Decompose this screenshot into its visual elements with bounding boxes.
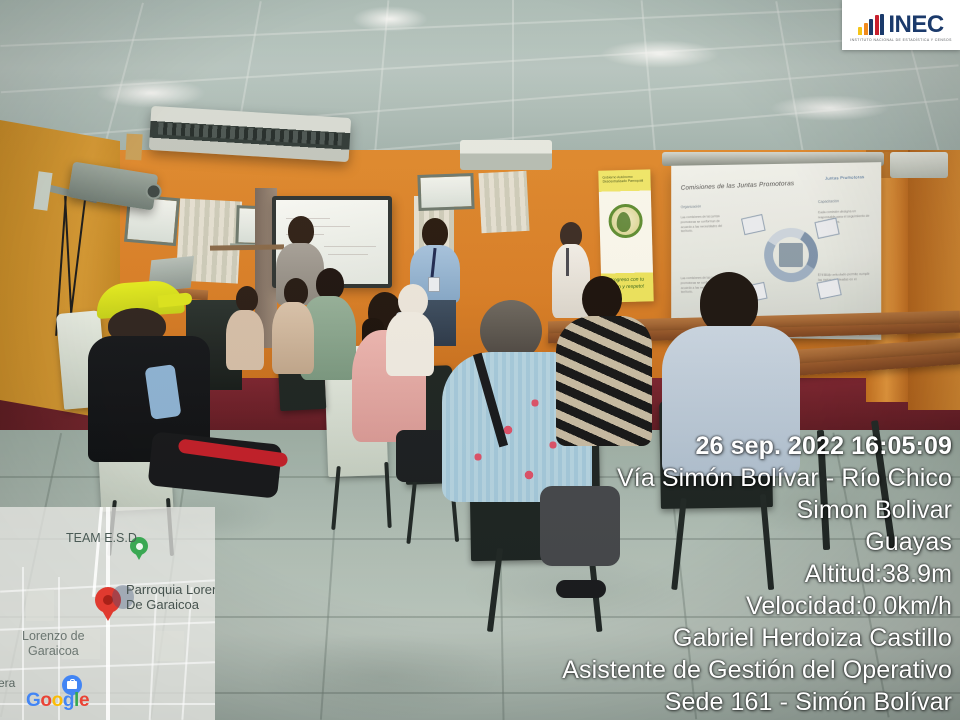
window-far-right bbox=[417, 173, 474, 211]
air-conditioner-far bbox=[890, 152, 948, 178]
gps-timestamp: 26 sep. 2022 16:05:09 bbox=[562, 430, 952, 462]
google-wordmark: Google bbox=[26, 691, 89, 710]
road-diagonal bbox=[92, 507, 103, 597]
map-overlay[interactable]: TEAM E.S.D Parroquia Lorenzo De Garaicoa… bbox=[0, 507, 215, 720]
ac-vent-grille bbox=[158, 122, 342, 145]
gps-speed: Velocidad:0.0km/h bbox=[562, 590, 952, 622]
gps-road: Vía Simón Bolívar - Río Chico bbox=[562, 462, 952, 494]
head bbox=[422, 218, 448, 248]
bar-blue bbox=[869, 19, 873, 35]
gps-role: Asistente de Gestión del Operativo bbox=[562, 654, 952, 686]
slide-logo: Juntas Promotoras bbox=[825, 174, 865, 181]
google-letter-e: e bbox=[79, 691, 89, 710]
google-letter-g1: G bbox=[26, 691, 40, 710]
gps-person-name: Gabriel Herdoiza Castillo bbox=[562, 622, 952, 654]
ceiling-light-4 bbox=[770, 95, 890, 121]
map-label-area-line1: Lorenzo de bbox=[22, 629, 85, 643]
torso bbox=[272, 302, 314, 374]
wall-pillar-far-right bbox=[908, 150, 960, 410]
torso-zebra bbox=[556, 316, 652, 446]
map-block-3 bbox=[156, 631, 184, 661]
google-letter-o2: o bbox=[52, 691, 63, 710]
electrical-box bbox=[125, 134, 142, 161]
slide-card-tr bbox=[814, 217, 839, 239]
slide-section-2: Capacitación bbox=[818, 199, 839, 204]
slide-title: Comisiones de las Juntas Promotoras bbox=[681, 180, 795, 192]
gps-locality: Simon Bolivar bbox=[562, 494, 952, 526]
id-badge bbox=[428, 277, 440, 292]
gps-province: Guayas bbox=[562, 526, 952, 558]
bar-orange bbox=[864, 23, 868, 35]
google-letter-o1: o bbox=[40, 691, 51, 710]
inec-logo: INEC Instituto Nacional de Estadística y… bbox=[842, 0, 960, 50]
briefcase-handle bbox=[70, 679, 75, 683]
lanyard bbox=[566, 248, 569, 276]
ceiling-light-2 bbox=[96, 78, 206, 108]
torso bbox=[386, 312, 434, 376]
google-logo[interactable]: Google bbox=[26, 691, 89, 710]
air-conditioner-secondary bbox=[460, 140, 552, 170]
google-letter-g2: g bbox=[63, 691, 74, 710]
inec-subtitle: Instituto Nacional de Estadística y Cens… bbox=[850, 38, 952, 42]
inec-logo-row: INEC bbox=[858, 9, 943, 35]
slide-body-1: Las comisiones de las juntas promotoras … bbox=[680, 214, 731, 235]
inec-wordmark: INEC bbox=[888, 15, 943, 35]
ceiling-light-1 bbox=[352, 6, 428, 32]
head bbox=[288, 216, 314, 246]
head bbox=[700, 272, 758, 334]
pin-tip bbox=[134, 551, 144, 560]
briefcase-icon bbox=[67, 681, 77, 689]
map-block-1 bbox=[26, 589, 54, 621]
map-label-parroquia-line2: De Garaicoa bbox=[126, 598, 199, 612]
head bbox=[236, 286, 258, 312]
map-label-parroquia-line1: Parroquia Lorenzo bbox=[126, 583, 215, 597]
pin-tip bbox=[100, 607, 116, 621]
map-label-partial-street: rera bbox=[0, 676, 15, 690]
slide-diagram-center-icon bbox=[779, 243, 803, 267]
gps-camera-photo: Comisiones de las Juntas Promotoras Junt… bbox=[0, 0, 960, 720]
map-label-team-esd: TEAM E.S.D bbox=[66, 531, 137, 545]
bar-navy bbox=[880, 14, 884, 35]
gps-site: Sede 161 - Simón Bolívar bbox=[562, 686, 952, 718]
bar-red bbox=[875, 15, 879, 35]
gps-altitude: Altitud:38.9m bbox=[562, 558, 952, 590]
torso bbox=[226, 310, 264, 370]
slide-card-br bbox=[816, 278, 841, 299]
slide-card-tl bbox=[741, 214, 766, 235]
banner-top-text: Gobierno Autónomo Descentralizado Parroq… bbox=[602, 174, 646, 184]
gps-text-overlay: 26 sep. 2022 16:05:09 Vía Simón Bolívar … bbox=[562, 430, 952, 718]
slide-section-1: Organización bbox=[681, 204, 701, 209]
map-label-area-line2: Garaicoa bbox=[28, 644, 79, 658]
road-vertical-1 bbox=[22, 567, 24, 720]
banner-leaf-icon bbox=[616, 212, 631, 232]
bar-chart-icon bbox=[858, 14, 884, 35]
curtain-far-right bbox=[478, 171, 529, 233]
bar-yellow bbox=[858, 27, 862, 35]
ceiling-light-3 bbox=[600, 40, 720, 68]
